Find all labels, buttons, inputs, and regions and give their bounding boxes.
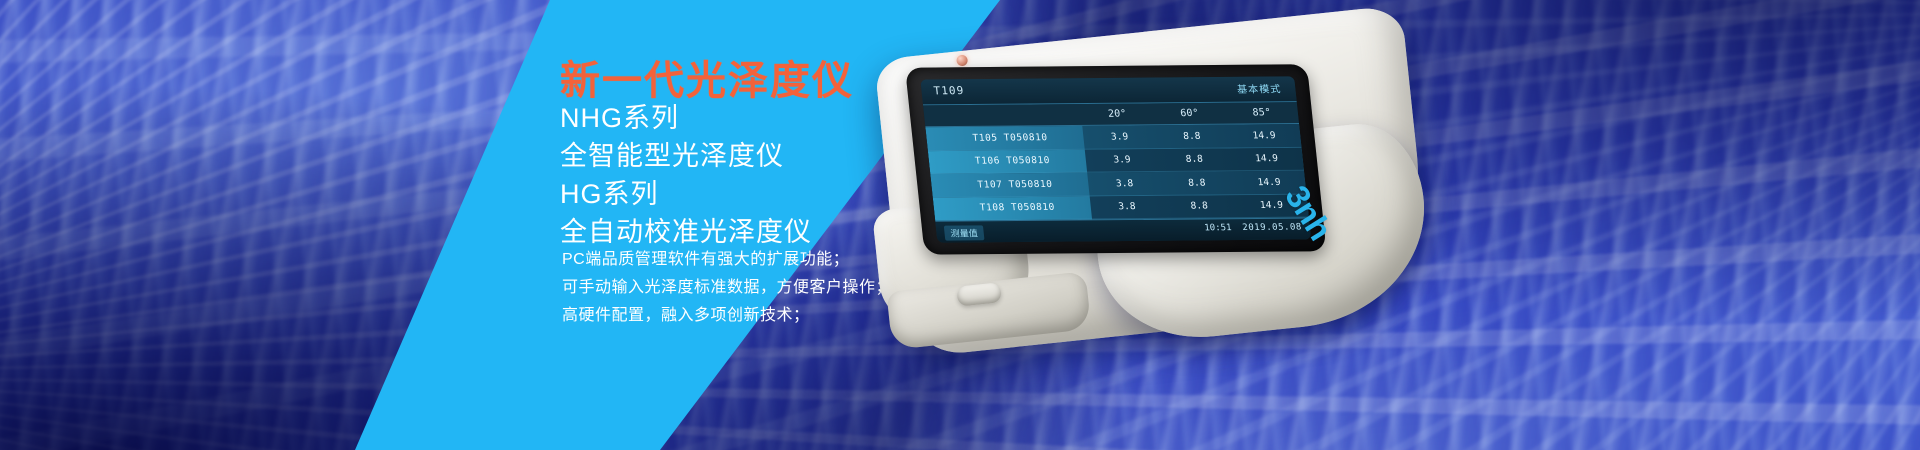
subhead-hg-desc: 全自动校准光泽度仪 [560,210,812,249]
row-sample-name: T107 T050810 [931,178,1089,190]
lcd-time: 10:51 [1204,223,1232,233]
subhead-nhg-series: NHG系列 [560,96,679,135]
lcd-column-headers: 20° 60° 85° [923,102,1299,127]
device-screen-bezel: T109 基本模式 20° 60° 85° T105 T050810 3.9 8… [905,64,1326,254]
device-lcd[interactable]: T109 基本模式 20° 60° 85° T105 T050810 3.9 8… [920,76,1311,242]
lcd-col-85deg: 85° [1225,107,1298,119]
subhead-nhg-desc: 全智能型光泽度仪 [560,134,784,173]
table-row[interactable]: T108 T050810 3.8 8.8 14.9 [933,194,1309,221]
lcd-measurement-list: T105 T050810 3.9 8.8 14.9 T106 T050810 3… [925,124,1309,221]
row-value-20: 3.9 [1083,131,1156,143]
feature-line-2: 可手动输入光泽度标准数据，方便客户操作； [562,273,892,297]
row-value-60: 8.8 [1163,200,1236,212]
subhead-hg-series: HG系列 [560,172,659,211]
lcd-titlebar: T109 基本模式 [920,76,1296,105]
row-value-85: 14.9 [1230,153,1303,165]
lcd-statusbar: 测量值 10:51 2019.05.08 [935,218,1311,243]
lcd-col-20deg: 20° [1081,108,1154,120]
lcd-mode-label[interactable]: 基本模式 [1236,80,1282,95]
row-value-60: 8.8 [1160,177,1233,189]
gloss-meter-device: T109 基本模式 20° 60° 85° T105 T050810 3.9 8… [842,0,1497,413]
row-sample-name: T106 T050810 [928,155,1086,167]
product-banner: 新一代光泽度仪 NHG系列 全智能型光泽度仪 HG系列 全自动校准光泽度仪 PC… [0,0,1920,450]
lcd-col-name [924,114,1081,115]
row-sample-name: T108 T050810 [933,202,1091,214]
row-value-20: 3.9 [1085,154,1158,166]
row-value-20: 3.8 [1090,201,1163,213]
feature-line-3: 高硬件配置，融入多项创新技术； [562,301,810,325]
lcd-sample-title: T109 [933,84,965,97]
table-row[interactable]: T106 T050810 3.9 8.8 14.9 [928,147,1304,174]
feature-line-1: PC端品质管理软件有强大的扩展功能； [562,245,849,269]
table-row[interactable]: T107 T050810 3.8 8.8 14.9 [930,171,1306,198]
row-value-20: 3.8 [1088,178,1161,190]
row-value-85: 14.9 [1227,130,1300,142]
lcd-col-60deg: 60° [1153,108,1226,120]
lcd-measure-button[interactable]: 测量值 [944,225,985,240]
row-value-85: 14.9 [1232,176,1305,188]
row-value-60: 8.8 [1158,154,1231,166]
row-value-60: 8.8 [1155,130,1228,142]
table-row[interactable]: T105 T050810 3.9 8.8 14.9 [925,124,1301,151]
row-sample-name: T105 T050810 [926,132,1084,144]
